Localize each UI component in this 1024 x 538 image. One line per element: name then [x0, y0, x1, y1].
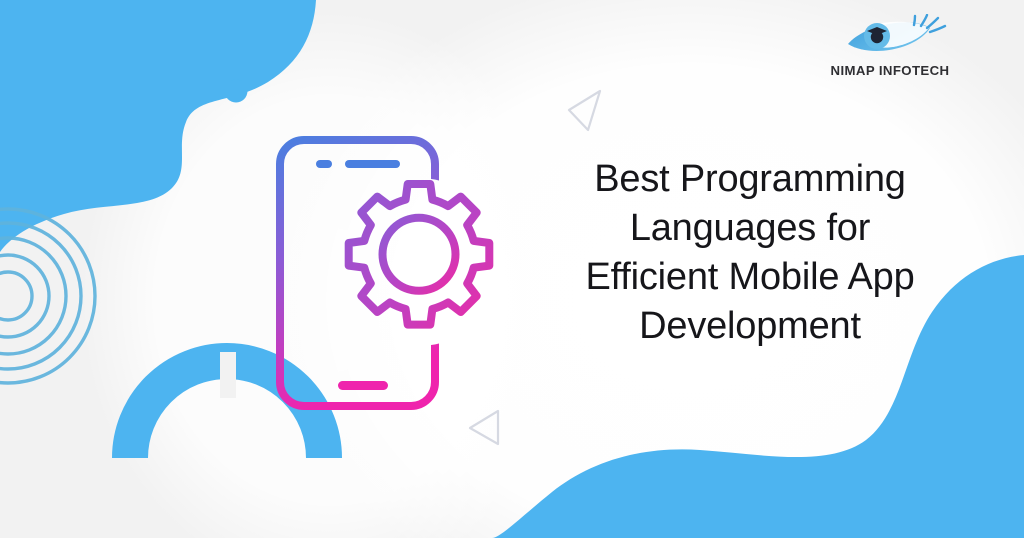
headline-line-4: Development — [540, 302, 960, 351]
phone-home-button — [338, 381, 388, 390]
phone-camera-dot — [316, 160, 332, 168]
headline-line-1: Best Programming — [540, 155, 960, 204]
phone-outline — [280, 140, 435, 406]
phone-speaker-pill — [345, 160, 400, 168]
headline-line-2: Languages for — [540, 204, 960, 253]
brand-name: NIMAP INFOTECH — [820, 63, 960, 78]
eye-logo-icon — [820, 14, 960, 62]
blue-dot — [225, 80, 248, 103]
gear-outline — [349, 184, 490, 325]
donut-arc-gap — [220, 352, 236, 398]
mobile-app-settings-icon — [262, 128, 522, 418]
brand-logo: NIMAP INFOTECH — [820, 14, 960, 88]
gear-inner-circle — [383, 218, 456, 291]
headline-line-3: Efficient Mobile App — [540, 253, 960, 302]
page-title: Best Programming Languages for Efficient… — [540, 155, 960, 351]
banner-graphic: NIMAP INFOTECH Best Programming Language… — [0, 0, 1024, 538]
